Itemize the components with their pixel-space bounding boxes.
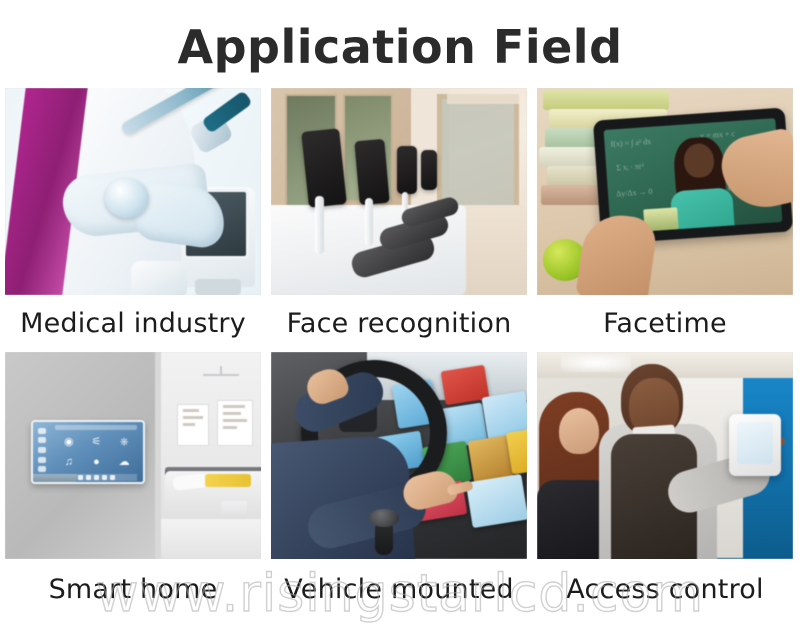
caption-facetime: Facetime <box>537 295 793 352</box>
application-field-poster: Application Field <box>0 0 800 628</box>
panel-icon-grid[interactable]: ◉ ⚟ ⎈ ♫ ● ☁ <box>55 432 138 473</box>
face-recognition-photo <box>271 88 527 295</box>
grid-cell-vehicle-mounted[interactable]: Vehicle mounted <box>271 352 527 619</box>
thumbnail-access-control[interactable] <box>537 352 793 559</box>
page-title: Application Field <box>0 22 800 73</box>
thumbnail-face-recognition[interactable] <box>271 88 527 295</box>
caption-vehicle-mounted: Vehicle mounted <box>271 559 527 619</box>
caption-face-recognition: Face recognition <box>271 295 527 352</box>
thumbnail-facetime[interactable]: f(x) = ∫ a² dx y = mx + c Σ xᵢ · πr² √(a… <box>537 88 793 295</box>
thumbnail-smart-home[interactable]: ◉ ⚟ ⎈ ♫ ● ☁ <box>5 352 261 559</box>
panel-side-icons <box>35 426 49 474</box>
caption-medical-industry: Medical industry <box>5 295 261 352</box>
thermometer-icon[interactable]: ⚟ <box>92 437 102 448</box>
thumbnail-medical-industry[interactable] <box>5 88 261 295</box>
grid-cell-smart-home[interactable]: ◉ ⚟ ⎈ ♫ ● ☁ Smart home <box>5 352 261 619</box>
grid-cell-medical-industry[interactable]: Medical industry <box>5 88 261 352</box>
access-control-photo <box>537 352 793 559</box>
medical-industry-photo <box>5 88 261 295</box>
caption-access-control: Access control <box>537 559 793 619</box>
music-note-icon[interactable]: ♫ <box>65 457 73 468</box>
vehicle-mounted-photo <box>271 352 527 559</box>
grid-cell-access-control[interactable]: Access control <box>537 352 793 619</box>
application-grid: Medical industry <box>5 88 793 619</box>
play-circle-icon[interactable]: ◉ <box>64 437 74 448</box>
facetime-photo: f(x) = ∫ a² dx y = mx + c Σ xᵢ · πr² √(a… <box>537 88 793 295</box>
cloud-icon[interactable]: ☁ <box>119 457 130 468</box>
grid-cell-face-recognition[interactable]: Face recognition <box>271 88 527 352</box>
thumbnail-vehicle-mounted[interactable] <box>271 352 527 559</box>
caption-smart-home: Smart home <box>5 559 261 619</box>
smart-home-photo: ◉ ⚟ ⎈ ♫ ● ☁ <box>5 352 261 559</box>
location-pin-icon[interactable]: ● <box>93 457 100 468</box>
power-icon[interactable]: ⎈ <box>120 437 129 448</box>
grid-cell-facetime[interactable]: f(x) = ∫ a² dx y = mx + c Σ xᵢ · πr² √(a… <box>537 88 793 352</box>
access-control-reader[interactable] <box>729 414 781 476</box>
